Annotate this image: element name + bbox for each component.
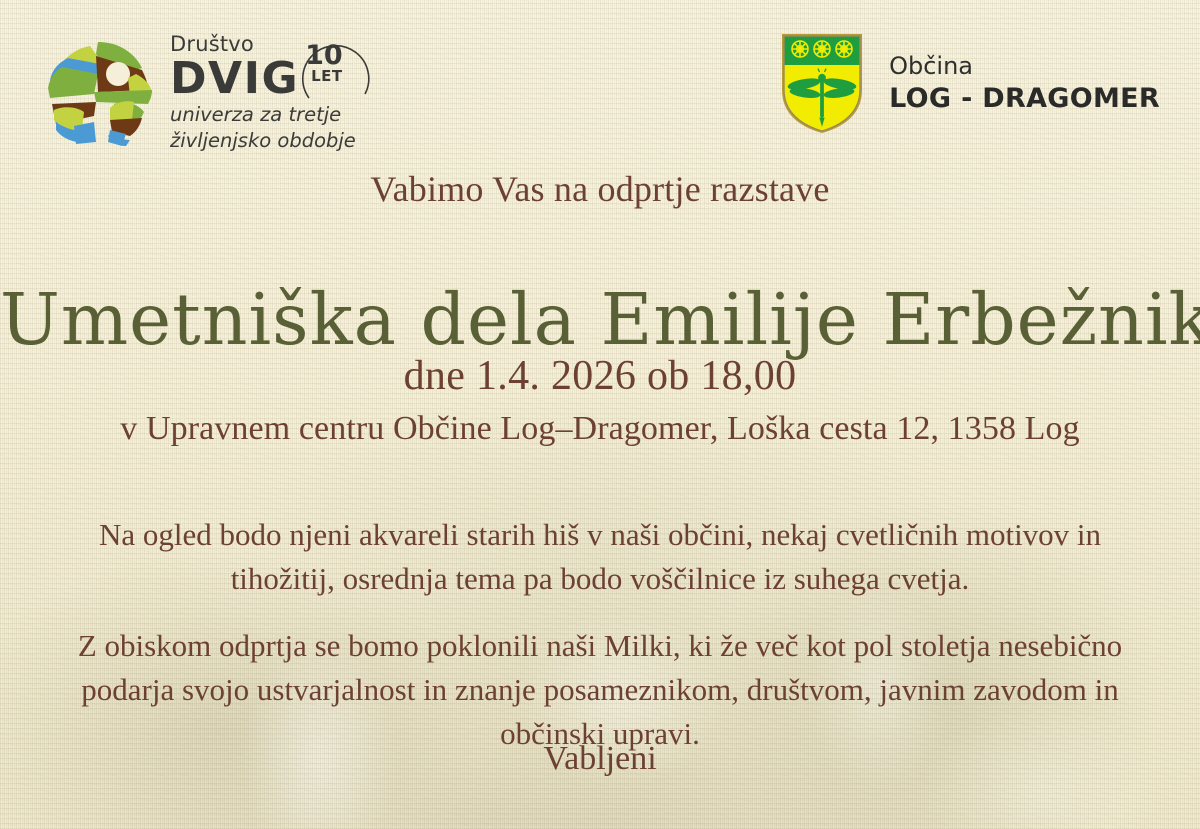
dvig-circular-mosaic-logo-icon [38,30,158,148]
obcina-logo: Občina LOG - DRAGOMER [779,32,1160,135]
dvig-badge-number: 10 [305,42,343,69]
exhibition-title: Umetniška dela Emilije Erbežnik [0,284,1200,355]
description-paragraph-1: Na ogled bodo njeni akvareli starih hiš … [52,513,1148,601]
dvig-badge-unit: LET [311,69,343,84]
event-venue: v Upravnem centru Občine Log–Dragomer, L… [0,410,1200,448]
invitation-poster: Društvo DVIG 10 LET univerza za tretje ž… [0,0,1200,829]
description-paragraph-2: Z obiskom odprtja se bomo poklonili naši… [52,624,1148,756]
invitation-lead-line: Vabimo Vas na odprtje razstave [0,168,1200,210]
log-dragomer-coat-of-arms-icon [779,32,865,135]
dvig-anniversary-badge: 10 LET [301,48,363,100]
dvig-logo: Društvo DVIG 10 LET univerza za tretje ž… [38,30,363,152]
obcina-label: Občina [889,53,1160,79]
obcina-name: LOG - DRAGOMER [889,84,1160,114]
event-datetime: dne 1.4. 2026 ob 18,00 [0,352,1200,400]
dvig-tagline-line-2: življenjsko obdobje [170,129,363,152]
poster-header: Društvo DVIG 10 LET univerza za tretje ž… [0,0,1200,160]
closing-word: Vabljeni [0,740,1200,778]
dvig-wordmark: DVIG [170,58,299,100]
